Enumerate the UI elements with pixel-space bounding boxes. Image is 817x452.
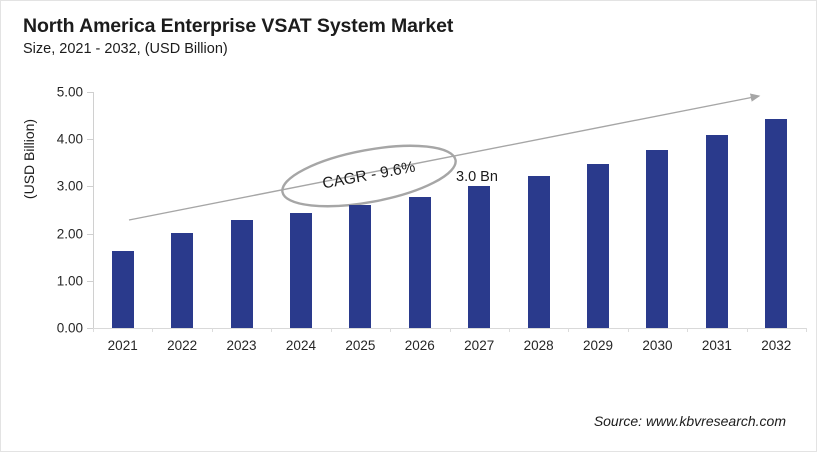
x-axis-tick: [687, 328, 688, 332]
x-axis-tick: [152, 328, 153, 332]
x-axis-tick: [628, 328, 629, 332]
x-axis-tick: [509, 328, 510, 332]
x-axis-tick: [390, 328, 391, 332]
y-axis-tick-labels: 0.001.002.003.004.005.00: [35, 1, 83, 452]
x-axis-tick-label-2022: 2022: [152, 338, 212, 353]
y-axis-tick-label: 1.00: [39, 273, 83, 288]
y-axis-tick-label: 3.00: [39, 179, 83, 194]
bar-2029[interactable]: [587, 164, 609, 328]
x-axis-tick: [747, 328, 748, 332]
x-axis-tick-label-2025: 2025: [330, 338, 390, 353]
bar-2030[interactable]: [646, 150, 668, 328]
y-axis-tick-label: 2.00: [39, 226, 83, 241]
data-label-2027: 3.0 Bn: [456, 169, 498, 185]
bar-2024[interactable]: [290, 213, 312, 328]
y-axis-tick: [87, 281, 93, 282]
bar-2023[interactable]: [231, 220, 253, 328]
bar-2028[interactable]: [528, 176, 550, 328]
x-axis-tick-label-2031: 2031: [687, 338, 747, 353]
y-axis-tick: [87, 92, 93, 93]
y-axis-tick: [87, 186, 93, 187]
y-axis-tick-label: 5.00: [39, 85, 83, 100]
bar-2031[interactable]: [706, 135, 728, 328]
x-axis-tick-label-2021: 2021: [93, 338, 153, 353]
x-axis-tick: [568, 328, 569, 332]
x-axis-tick-label-2024: 2024: [271, 338, 331, 353]
page-title: North America Enterprise VSAT System Mar…: [23, 15, 723, 37]
x-axis-tick-label-2029: 2029: [568, 338, 628, 353]
x-axis-tick: [331, 328, 332, 332]
x-axis-tick: [271, 328, 272, 332]
x-axis-tick: [450, 328, 451, 332]
x-axis-tick: [806, 328, 807, 332]
bar-2025[interactable]: [349, 205, 371, 328]
y-axis-tick-label: 4.00: [39, 132, 83, 147]
y-axis-tick: [87, 139, 93, 140]
bar-2022[interactable]: [171, 233, 193, 328]
x-axis-tick-label-2026: 2026: [390, 338, 450, 353]
x-axis-tick: [212, 328, 213, 332]
x-axis-tick-label-2030: 2030: [627, 338, 687, 353]
x-axis-tick-label-2028: 2028: [509, 338, 569, 353]
bar-2032[interactable]: [765, 119, 787, 328]
x-axis-tick-label-2027: 2027: [449, 338, 509, 353]
x-axis-tick-label-2023: 2023: [212, 338, 272, 353]
bar-2026[interactable]: [409, 197, 431, 328]
source-attribution: Source: www.kbvresearch.com: [594, 413, 786, 429]
y-axis-tick: [87, 234, 93, 235]
chart-card: North America Enterprise VSAT System Mar…: [0, 0, 817, 452]
bar-2021[interactable]: [112, 251, 134, 328]
bar-2027[interactable]: [468, 186, 490, 328]
y-axis-tick-label: 0.00: [39, 321, 83, 336]
cagr-callout: CAGR - 9.6%: [278, 143, 460, 209]
x-axis-tick: [93, 328, 94, 332]
x-axis-tick-label-2032: 2032: [746, 338, 806, 353]
title-block: North America Enterprise VSAT System Mar…: [23, 15, 723, 58]
chart-subtitle: Size, 2021 - 2032, (USD Billion): [23, 41, 723, 58]
